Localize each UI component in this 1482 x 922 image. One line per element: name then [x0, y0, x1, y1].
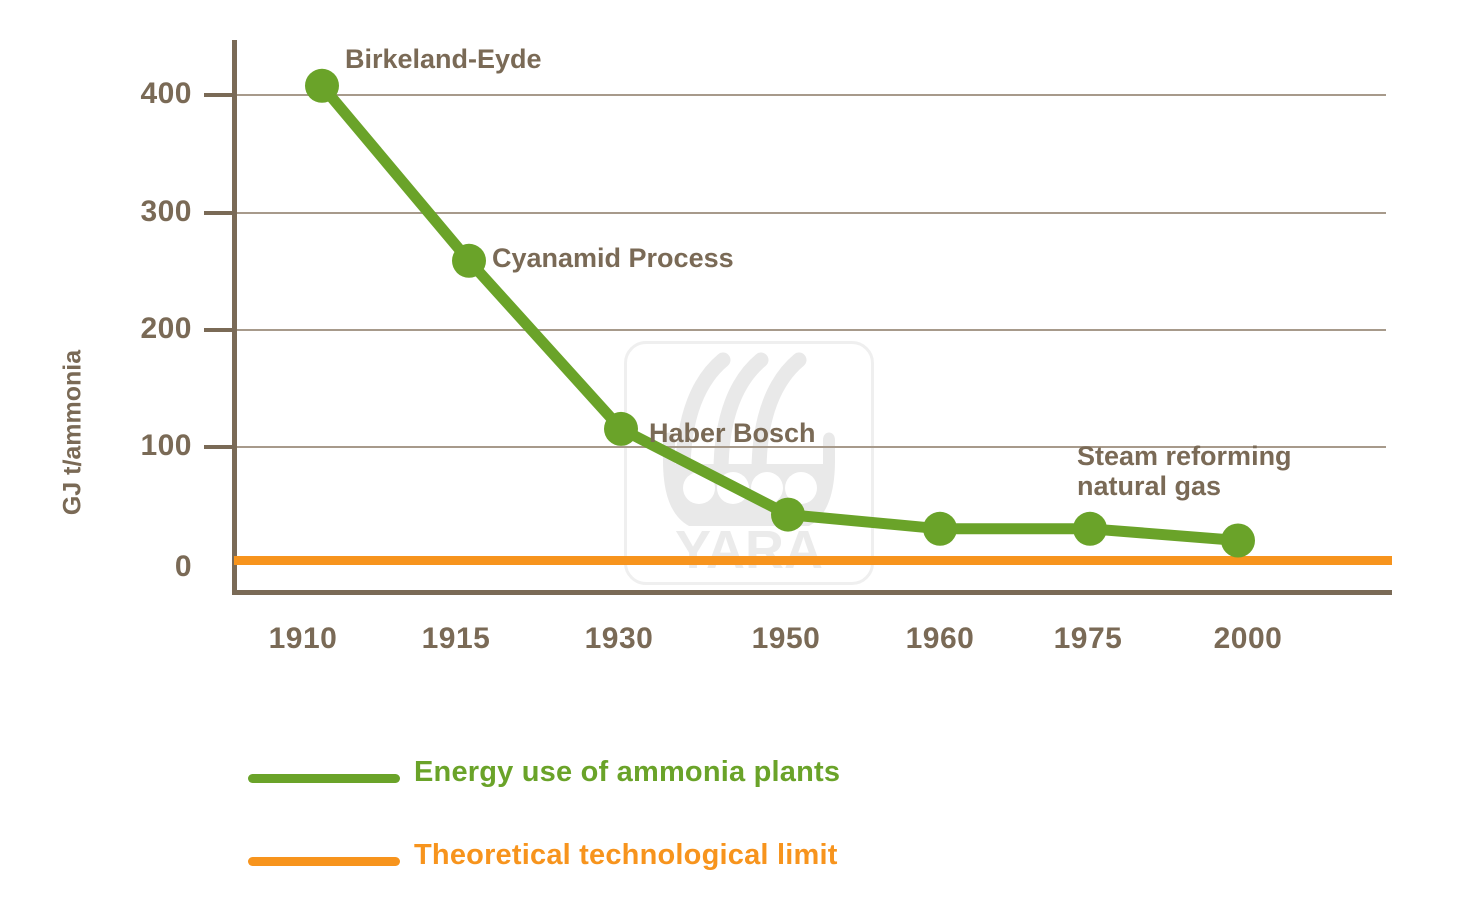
y-tick-label-200: 200	[140, 314, 192, 344]
gridline-200	[234, 329, 1386, 331]
gridline-400	[234, 94, 1386, 96]
x-tick-label-1960: 1960	[860, 622, 1020, 656]
x-axis-line	[232, 590, 1392, 595]
gridline-300	[234, 212, 1386, 214]
annotation-birkeland-eyde: Birkeland-Eyde	[345, 44, 542, 74]
y-axis-title: GJ t/ammonia	[59, 323, 88, 543]
x-tick-label-1930: 1930	[539, 622, 699, 656]
y-tick-label-400: 400	[140, 79, 192, 109]
y-tick-label-100: 100	[140, 431, 192, 461]
chart-legend: Energy use of ammonia plants Theoretical…	[248, 756, 948, 922]
watermark-brand-text: YARA	[675, 520, 823, 580]
x-tick-label-1950: 1950	[706, 622, 866, 656]
data-point-1960	[923, 512, 957, 546]
annotation-cyanamid-process: Cyanamid Process	[492, 243, 734, 273]
x-tick-label-1975: 1975	[1008, 622, 1168, 656]
y-axis-line	[232, 40, 237, 594]
x-tick-label-1915: 1915	[376, 622, 536, 656]
data-point-1975	[1073, 512, 1107, 546]
legend-item-energy-use: Energy use of ammonia plants	[248, 756, 948, 839]
y-tick-label-0: 0	[175, 552, 192, 582]
x-tick-label-1910: 1910	[223, 622, 383, 656]
data-point-1910	[305, 69, 339, 103]
chart-container: YARA 400 300 200 100 0 GJ t/ammonia 1910…	[0, 0, 1482, 922]
yara-watermark: YARA	[624, 341, 874, 585]
legend-swatch-green	[248, 774, 400, 783]
viking-ship-logo-icon: YARA	[627, 344, 871, 582]
y-tick-label-300: 300	[140, 197, 192, 227]
legend-swatch-orange	[248, 857, 400, 866]
legend-item-theoretical-limit: Theoretical technological limit	[248, 839, 948, 922]
annotation-haber-bosch: Haber Bosch	[649, 418, 816, 448]
legend-label-energy-use: Energy use of ammonia plants	[414, 756, 840, 789]
annotation-steam-reforming: Steam reforming natural gas	[1077, 441, 1292, 501]
data-point-2000	[1221, 524, 1255, 558]
data-point-1915	[452, 244, 486, 278]
legend-label-theoretical-limit: Theoretical technological limit	[414, 839, 838, 872]
x-tick-label-2000: 2000	[1168, 622, 1328, 656]
